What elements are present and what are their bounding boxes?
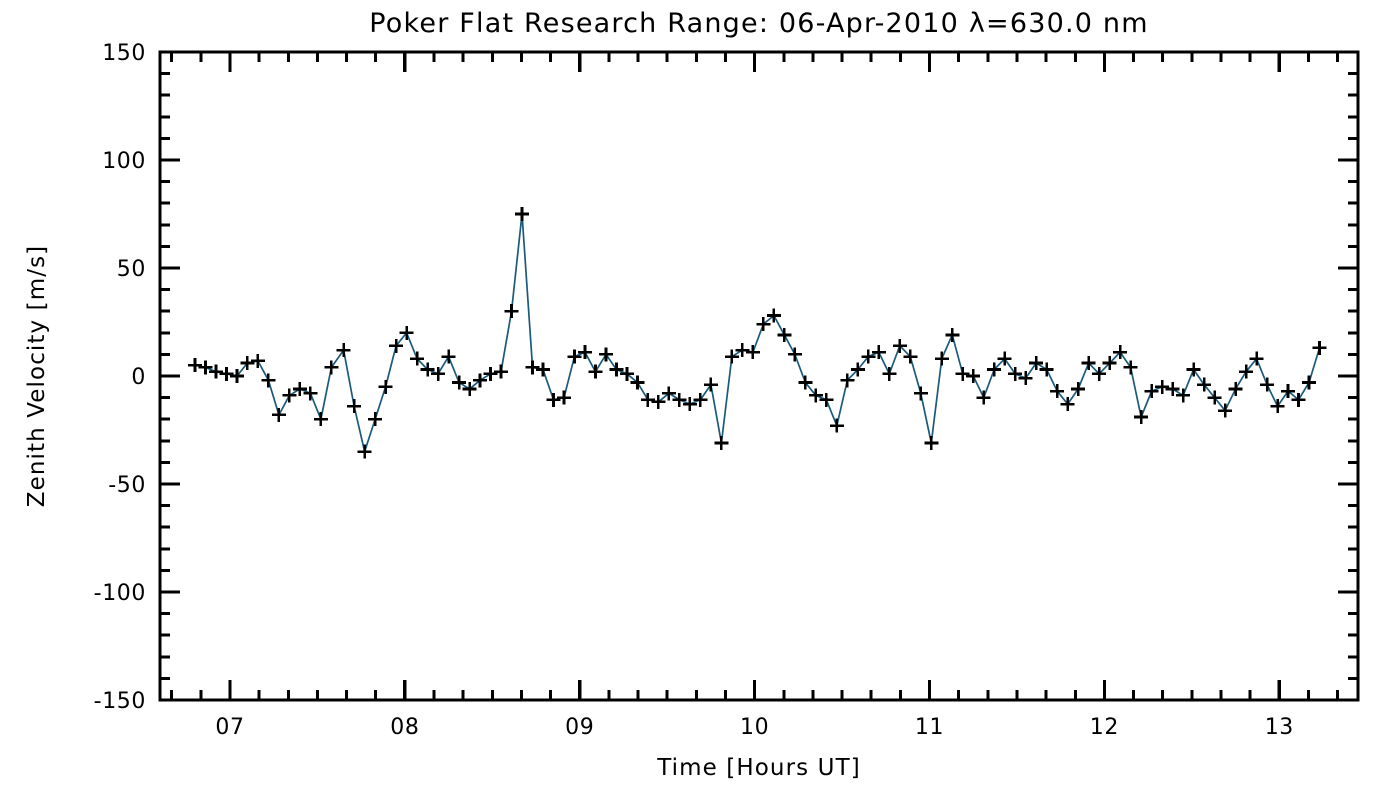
y-axis: 150100500-50-100-150 [94,41,1358,714]
data-series-0 [188,207,1327,459]
y-tick-label: 50 [117,257,146,282]
x-tick-label: 07 [215,715,244,740]
x-tick-label: 11 [915,715,944,740]
y-tick-label: -150 [94,689,146,714]
x-tick-label: 09 [565,715,594,740]
x-axis-title: Time [Hours UT] [656,755,861,781]
x-tick-label: 13 [1265,715,1294,740]
x-axis: 07080910111213 [172,52,1338,740]
x-tick-label: 12 [1090,715,1119,740]
y-tick-label: -50 [108,473,146,498]
plot-frame [160,52,1358,700]
zenith-velocity-plot: Poker Flat Research Range: 06-Apr-2010 λ… [0,0,1400,800]
y-tick-label: -100 [94,581,146,606]
figure-canvas: Poker Flat Research Range: 06-Apr-2010 λ… [0,0,1400,800]
data-polyline [195,214,1320,452]
y-tick-label: 100 [102,149,146,174]
y-tick-label: 0 [131,365,146,390]
y-tick-label: 150 [102,41,146,66]
y-axis-title: Zenith Velocity [m/s] [24,245,50,508]
plot-title: Poker Flat Research Range: 06-Apr-2010 λ… [369,8,1148,39]
x-tick-label: 10 [740,715,769,740]
x-tick-label: 08 [390,715,419,740]
